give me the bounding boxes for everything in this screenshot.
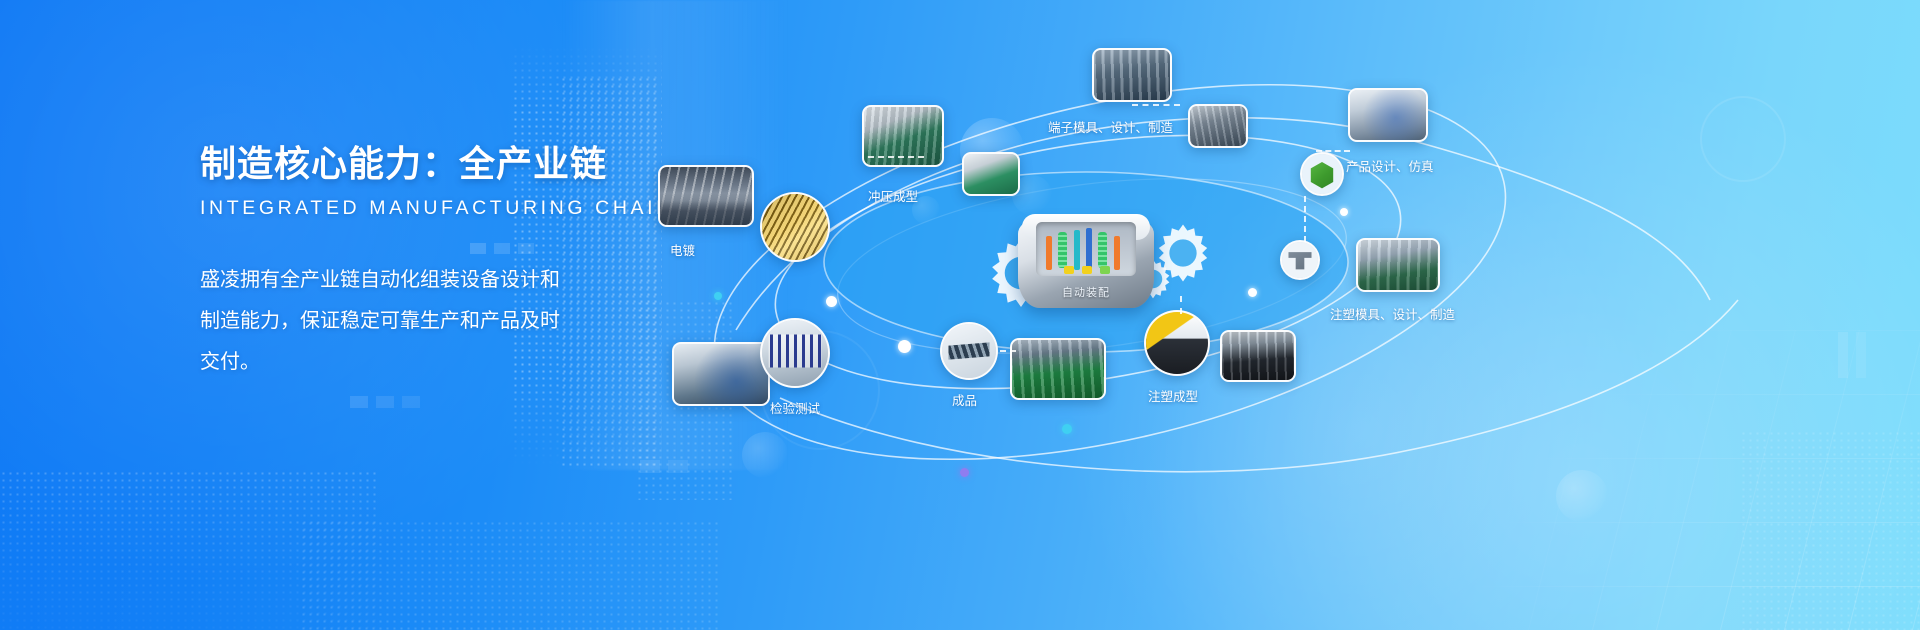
- machine-pin: [1064, 266, 1074, 274]
- injection-forming-thumbnail[interactable]: [1144, 310, 1210, 376]
- machine-well: [1036, 222, 1136, 276]
- pixel-bar: [350, 396, 368, 408]
- product-design-thumbnail[interactable]: [1348, 88, 1428, 142]
- stamping-label: 冲压成型: [868, 186, 918, 205]
- orbit-dot: [826, 296, 837, 307]
- dot-field-left: [0, 470, 380, 630]
- orbit-dot: [1248, 288, 1257, 297]
- terminal-strip-thumbnail[interactable]: [760, 192, 830, 262]
- electroplating-thumbnail[interactable]: [658, 165, 754, 227]
- inspection-photo-thumbnail[interactable]: [672, 342, 770, 406]
- page-title: 制造核心能力：全产业链: [200, 142, 620, 185]
- machine-line-thumbnail[interactable]: [1220, 330, 1296, 382]
- machine-pin: [1074, 230, 1080, 270]
- injection-mold-thumbnail[interactable]: [1356, 238, 1440, 292]
- process-chain-diagram: 自动装配 电镀 冲压成型: [640, 0, 1920, 630]
- connector-dashed: [1000, 350, 1016, 352]
- machine-pin: [1100, 266, 1110, 274]
- page-subtitle: INTEGRATED MANUFACTURING CHAIN: [200, 197, 620, 220]
- orbit-dot: [1340, 208, 1348, 216]
- center-label: 自动装配: [1012, 284, 1160, 300]
- machine-pin: [1086, 228, 1092, 270]
- connector-dashed: [1180, 296, 1182, 314]
- orbit-dot: [714, 292, 722, 300]
- terminal-mold-thumbnail[interactable]: [1092, 48, 1172, 102]
- product-design-label: 产品设计、仿真: [1346, 156, 1434, 175]
- electroplating-label: 电镀: [670, 240, 695, 259]
- production-line-thumbnail[interactable]: [1010, 338, 1106, 400]
- machine-coil: [1058, 232, 1067, 268]
- finished-product-thumbnail[interactable]: [940, 322, 998, 380]
- mold-block-thumbnail[interactable]: [1188, 104, 1248, 148]
- manufacturing-banner: 制造核心能力：全产业链 INTEGRATED MANUFACTURING CHA…: [0, 0, 1920, 630]
- clamp-thumbnail[interactable]: [1280, 240, 1320, 280]
- connector-dashed: [1304, 196, 1306, 242]
- connector-dashed: [868, 156, 924, 158]
- orbit-paths: [640, 0, 1920, 630]
- connector-dashed: [1316, 150, 1350, 152]
- injection-forming-label: 注塑成型: [1148, 386, 1198, 405]
- finished-product-label: 成品: [952, 390, 977, 409]
- orbit-dot: [1062, 424, 1072, 434]
- inspection-testing-label: 检验测试: [770, 398, 820, 417]
- machine-coil: [1098, 232, 1107, 268]
- body-paragraph: 盛凌拥有全产业链自动化组装设备设计和制造能力，保证稳定可靠生产和产品及时交付。: [200, 260, 560, 383]
- orbit-dot: [898, 340, 911, 353]
- machine-pin: [1082, 266, 1092, 274]
- center-assembly-machine: 自动装配: [1012, 192, 1160, 312]
- pixel-bar: [402, 396, 420, 408]
- injection-mold-label: 注塑模具、设计、制造: [1330, 304, 1455, 323]
- connector-dashed: [1132, 104, 1180, 106]
- pixel-bar: [376, 396, 394, 408]
- machine-pin: [1046, 236, 1052, 270]
- green-cube-thumbnail[interactable]: [1300, 152, 1344, 196]
- terminal-mold-label: 端子模具、设计、制造: [1048, 117, 1173, 136]
- copy-block: 制造核心能力：全产业链 INTEGRATED MANUFACTURING CHA…: [200, 142, 620, 383]
- machine-pin: [1114, 236, 1120, 270]
- orbit-dot: [960, 468, 969, 477]
- green-machine-thumbnail[interactable]: [962, 152, 1020, 196]
- testing-rack-thumbnail[interactable]: [760, 318, 830, 388]
